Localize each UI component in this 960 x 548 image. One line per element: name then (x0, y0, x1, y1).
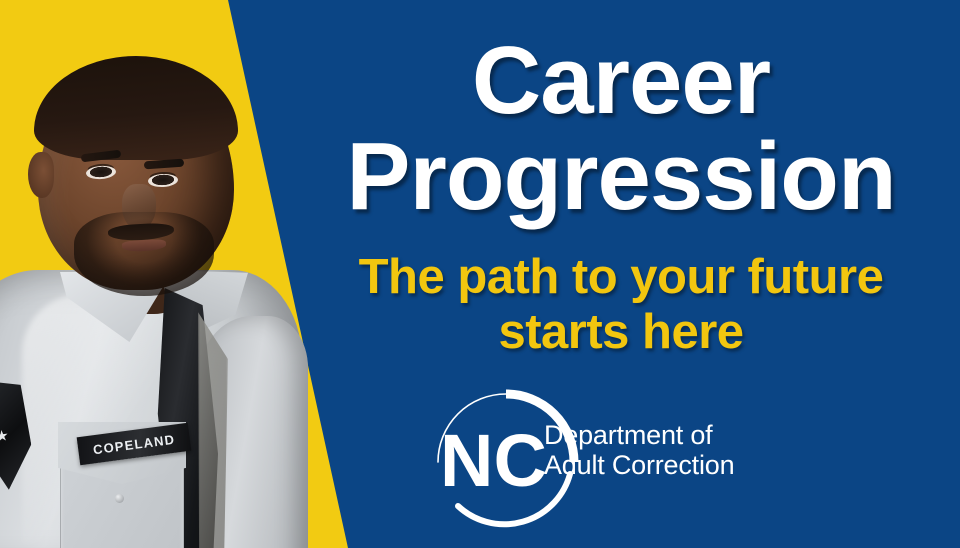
name-tag-text: COPELAND (92, 431, 176, 457)
subtitle-line-2: starts here (296, 305, 946, 360)
ear (28, 152, 54, 198)
subtitle-line-1: The path to your future (359, 250, 884, 304)
logo-monogram-nc: NC (440, 419, 547, 502)
logo-line-1: Department of (544, 420, 734, 450)
headline-line-1: Career (472, 27, 770, 134)
career-progression-banner: COPELAND Career Progression The path to … (0, 0, 960, 548)
nc-dac-logo: NC Department of Adult Correction (432, 388, 832, 528)
subtitle: The path to your future starts here (296, 250, 946, 360)
pocket-button (115, 494, 124, 503)
logo-wordmark: Department of Adult Correction (544, 420, 734, 480)
headline-line-2: Progression (296, 130, 946, 224)
logo-line-2: Adult Correction (544, 450, 734, 480)
officer-portrait-photo: COPELAND (0, 26, 312, 548)
hair (34, 56, 238, 160)
headline: Career Progression (296, 34, 946, 224)
